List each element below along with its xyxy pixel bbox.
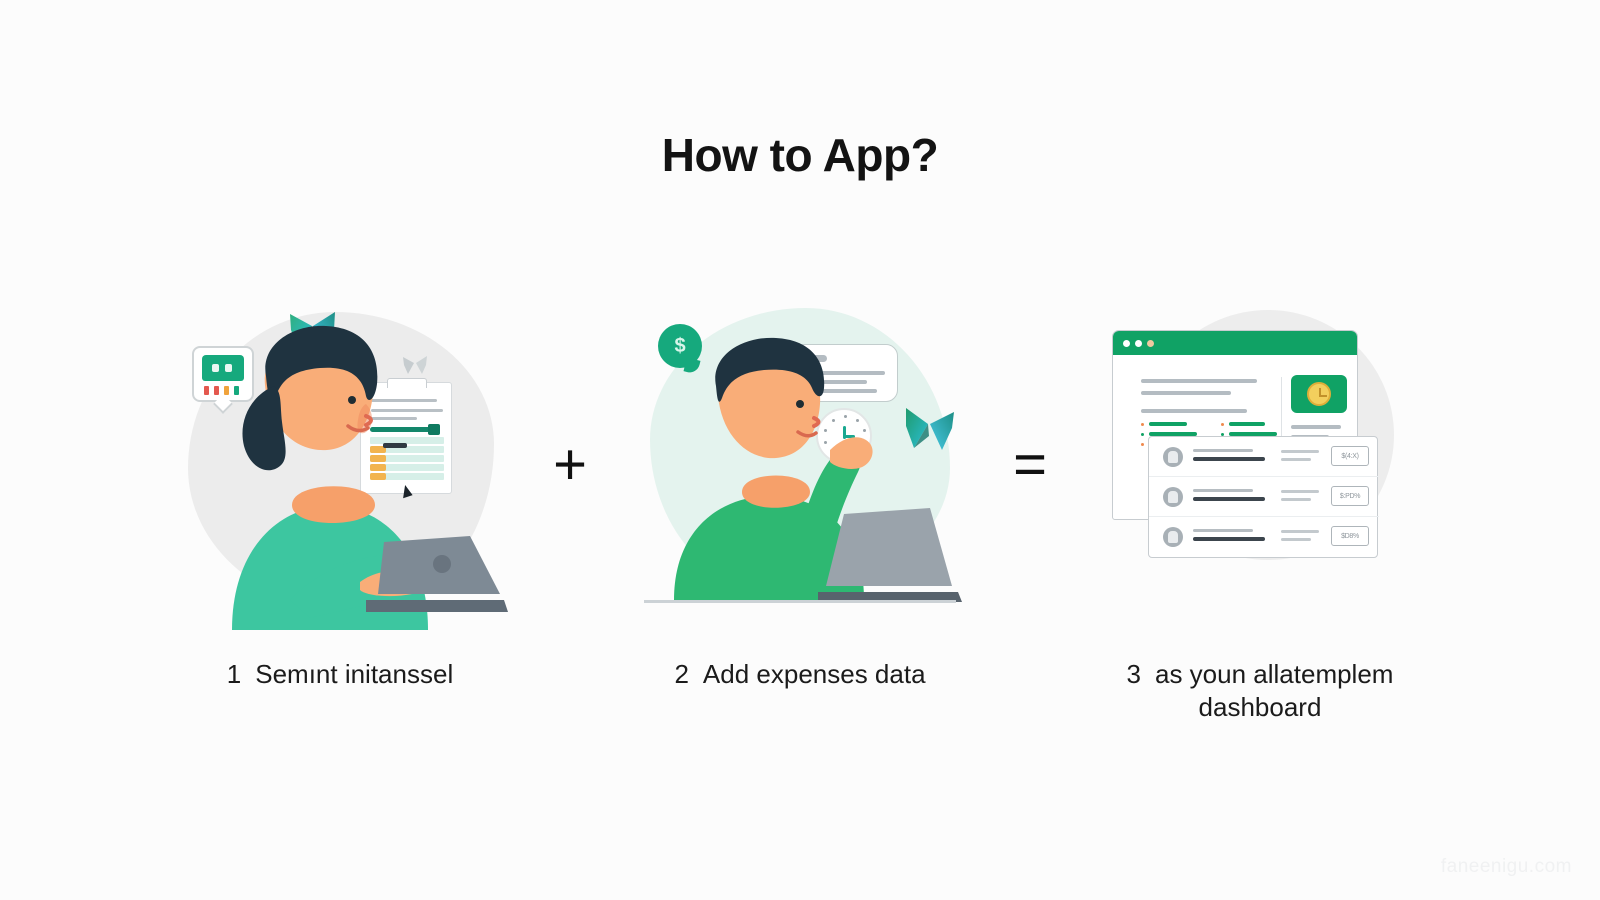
step-2-number: 2 xyxy=(674,658,688,691)
window-dot-icon xyxy=(1147,340,1154,347)
page-title: How to App? xyxy=(0,128,1600,182)
step-3: $(4:X) $:PD% $D8% 3as youn allatemple xyxy=(1090,300,1430,725)
status-badge: $D8% xyxy=(1331,526,1369,546)
step-1-caption: 1Semınt initanssel xyxy=(160,658,520,691)
step-1-number: 1 xyxy=(227,658,241,691)
watermark: faneenigu.com xyxy=(1441,856,1572,878)
operator-plus: + xyxy=(510,300,630,630)
dashboard-window-illustration: $(4:X) $:PD% $D8% xyxy=(1090,300,1430,630)
status-badge: $:PD% xyxy=(1331,486,1369,506)
operator-equals: = xyxy=(970,300,1090,630)
steps-row: 1Semınt initanssel + $ xyxy=(0,300,1600,740)
chart-tile[interactable] xyxy=(1291,375,1347,413)
list-item[interactable]: $D8% xyxy=(1149,517,1379,557)
step-3-label: as youn allatemplem dashboard xyxy=(1155,659,1393,722)
poster-root: How to App? xyxy=(0,0,1600,900)
list-item[interactable]: $:PD% xyxy=(1149,477,1379,517)
window-dot-icon xyxy=(1135,340,1142,347)
status-badge: $(4:X) xyxy=(1331,446,1369,466)
man-at-laptop-illustration: $ xyxy=(630,300,970,630)
avatar-icon xyxy=(1163,527,1183,547)
avatar-icon xyxy=(1163,487,1183,507)
step-1-label: Semınt initanssel xyxy=(255,659,453,689)
window-titlebar xyxy=(1113,331,1358,355)
list-card[interactable]: $(4:X) $:PD% $D8% xyxy=(1148,436,1378,558)
step-3-number: 3 xyxy=(1127,658,1141,691)
man-figure xyxy=(630,300,970,630)
step-3-caption: 3as youn allatemplem dashboard xyxy=(1080,658,1440,725)
avatar-icon xyxy=(1163,447,1183,467)
woman-figure xyxy=(170,300,510,630)
step-2-caption: 2Add expenses data xyxy=(620,658,980,691)
step-2-label: Add expenses data xyxy=(703,659,926,689)
step-1: 1Semınt initanssel xyxy=(170,300,510,691)
window-dot-icon xyxy=(1123,340,1130,347)
woman-at-laptop-illustration xyxy=(170,300,510,630)
pie-coin-icon xyxy=(1307,382,1331,406)
step-2: $ xyxy=(630,300,970,691)
list-item[interactable]: $(4:X) xyxy=(1149,437,1379,477)
